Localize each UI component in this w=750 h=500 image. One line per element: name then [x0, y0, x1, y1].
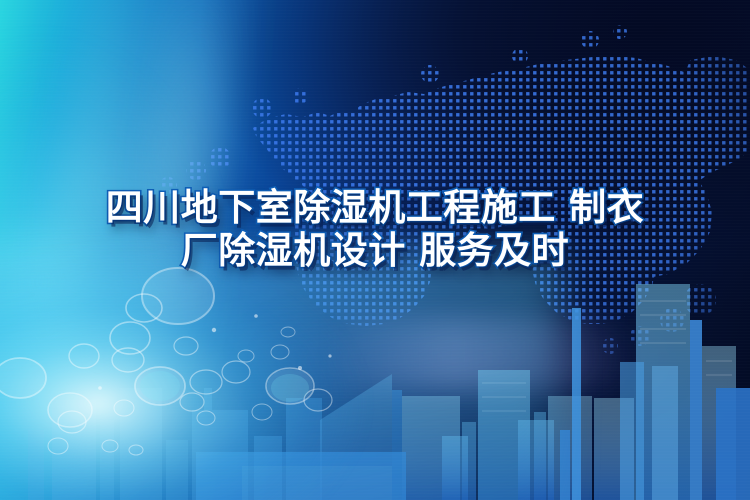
page-title: 四川地下室除湿机工程施工 制衣厂除湿机设计 服务及时	[0, 186, 750, 272]
bubble-graphic	[0, 260, 480, 500]
promo-banner: 四川地下室除湿机工程施工 制衣厂除湿机设计 服务及时	[0, 0, 750, 500]
